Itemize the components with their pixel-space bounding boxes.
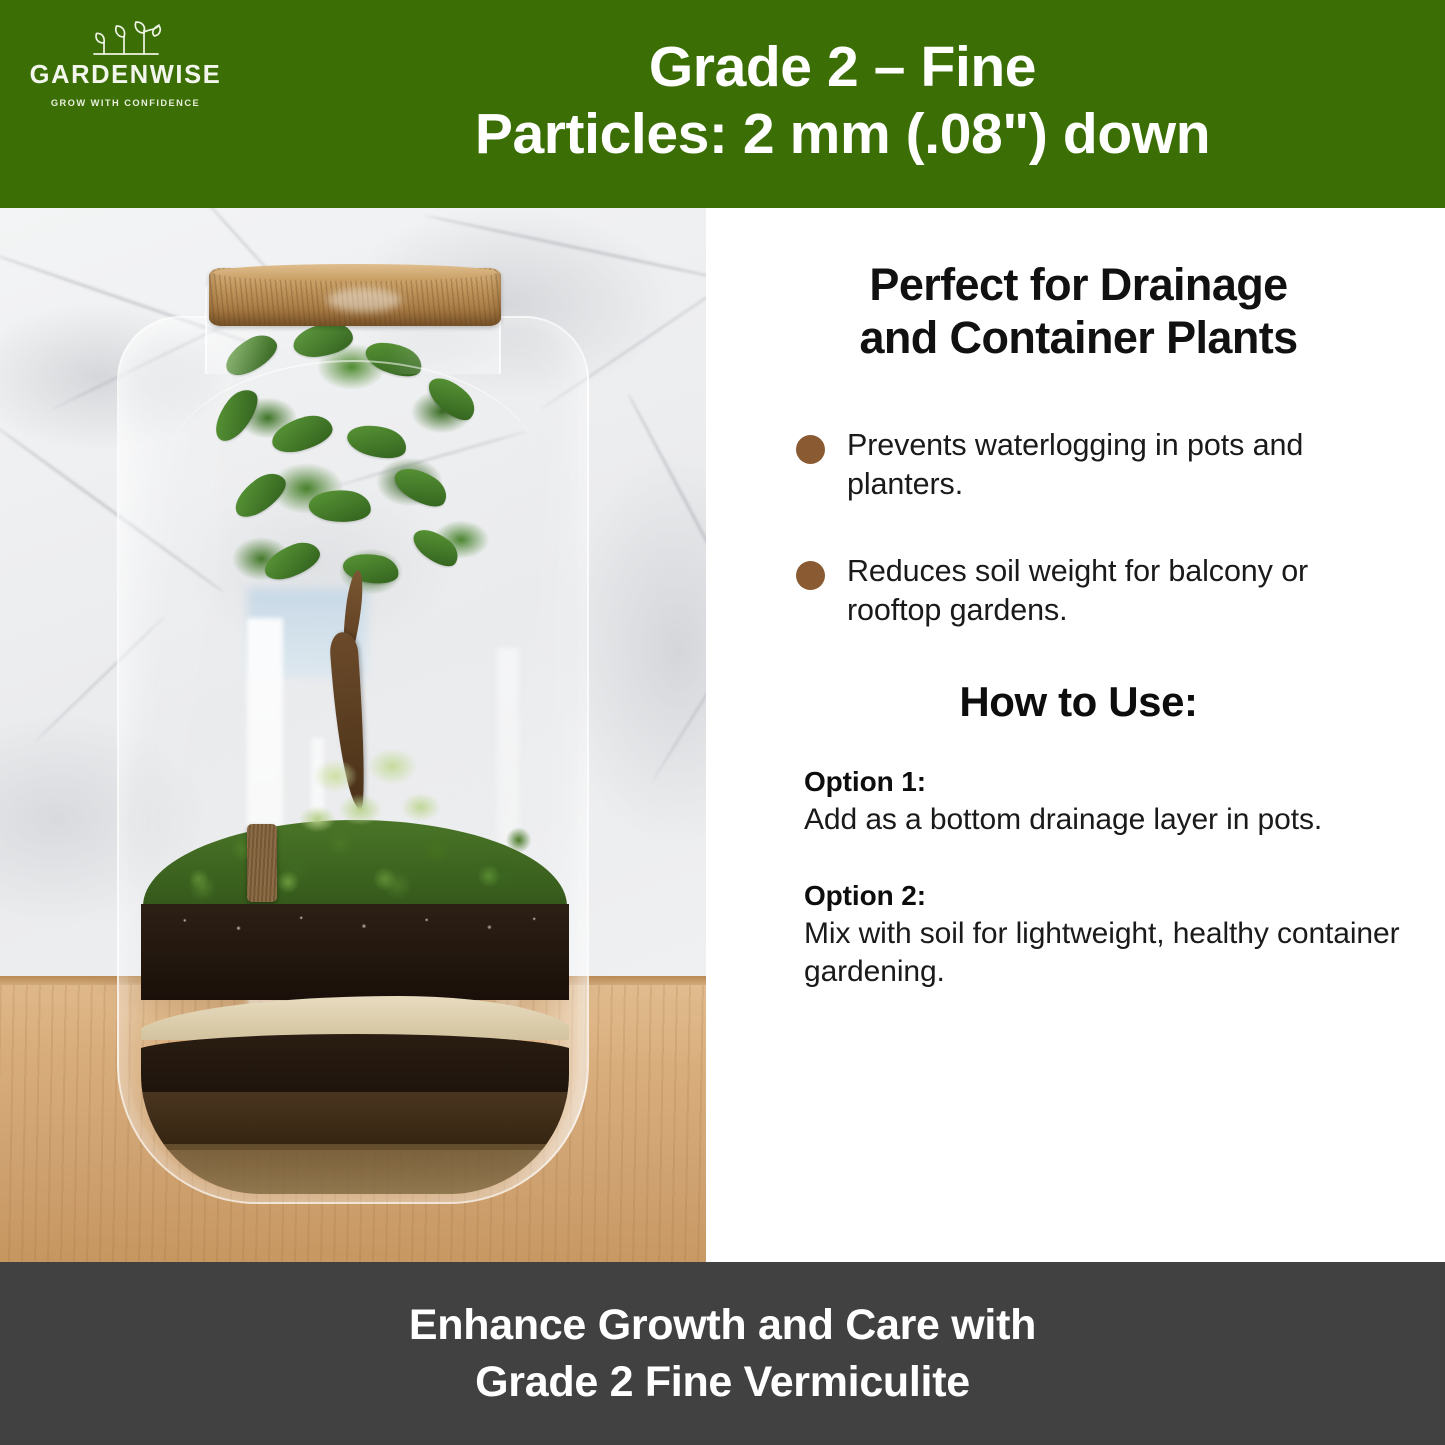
how-to-use-title: How to Use: bbox=[750, 678, 1407, 726]
perlite-grit bbox=[141, 910, 569, 936]
leaf bbox=[307, 487, 372, 525]
substrate-layers bbox=[141, 904, 569, 1194]
brand-tagline: GROW WITH CONFIDENCE bbox=[51, 98, 200, 108]
substrate-dark-soil bbox=[141, 1034, 569, 1100]
leaf bbox=[408, 521, 464, 573]
option-1-block: Option 1: Add as a bottom drainage layer… bbox=[750, 766, 1407, 839]
leaf bbox=[260, 537, 325, 585]
bullet-dot-icon bbox=[796, 435, 825, 464]
option-1-text: Add as a bottom drainage layer in pots. bbox=[804, 801, 1405, 839]
option-2-text: Mix with soil for lightweight, healthy c… bbox=[804, 915, 1405, 992]
option-2-block: Option 2: Mix with soil for lightweight,… bbox=[750, 880, 1407, 992]
fittonia-plant bbox=[289, 740, 467, 860]
footer-line2: Grade 2 Fine Vermiculite bbox=[475, 1354, 970, 1411]
brand-logo: GARDENWISE GROW WITH CONFIDENCE bbox=[18, 16, 233, 108]
header-title-group: Grade 2 – Fine Particles: 2 mm (.08") do… bbox=[250, 0, 1435, 208]
footer-banner: Enhance Growth and Care with Grade 2 Fin… bbox=[0, 1262, 1445, 1445]
option-1-label: Option 1: bbox=[804, 766, 1405, 798]
wood-chip-decor bbox=[247, 824, 277, 902]
cork-lid-top bbox=[213, 264, 497, 281]
leaf bbox=[228, 466, 293, 523]
bullet-dot-icon bbox=[796, 561, 825, 590]
substrate-mid-layer bbox=[141, 1092, 569, 1150]
header-banner: GARDENWISE GROW WITH CONFIDENCE Grade 2 … bbox=[0, 0, 1445, 208]
main-headline: Perfect for Drainage and Container Plant… bbox=[750, 258, 1407, 364]
cork-highlight bbox=[327, 288, 401, 312]
seedling-sprouts-icon bbox=[78, 16, 174, 62]
product-photo bbox=[0, 208, 706, 1262]
substrate-drainage-base bbox=[141, 1144, 569, 1194]
content-panel: Perfect for Drainage and Container Plant… bbox=[706, 208, 1445, 1262]
header-title-line1: Grade 2 – Fine bbox=[649, 37, 1036, 99]
marble-vein bbox=[651, 595, 706, 783]
benefit-text: Reduces soil weight for balcony or rooft… bbox=[847, 552, 1403, 630]
marble-vein bbox=[628, 394, 706, 625]
header-title-line2: Particles: 2 mm (.08") down bbox=[475, 103, 1210, 167]
list-item: Reduces soil weight for balcony or rooft… bbox=[796, 552, 1403, 630]
brand-name: GARDENWISE bbox=[30, 63, 222, 89]
benefit-text: Prevents waterlogging in pots and plante… bbox=[847, 426, 1403, 504]
list-item: Prevents waterlogging in pots and plante… bbox=[796, 426, 1403, 504]
headline-line2: and Container Plants bbox=[750, 311, 1407, 364]
footer-line1: Enhance Growth and Care with bbox=[409, 1297, 1036, 1354]
option-2-label: Option 2: bbox=[804, 880, 1405, 912]
headline-line1: Perfect for Drainage bbox=[750, 258, 1407, 311]
infographic-page: GARDENWISE GROW WITH CONFIDENCE Grade 2 … bbox=[0, 0, 1445, 1445]
substrate-topsoil bbox=[141, 904, 569, 1000]
glass-jar bbox=[117, 256, 589, 1204]
benefits-list: Prevents waterlogging in pots and plante… bbox=[750, 426, 1407, 630]
